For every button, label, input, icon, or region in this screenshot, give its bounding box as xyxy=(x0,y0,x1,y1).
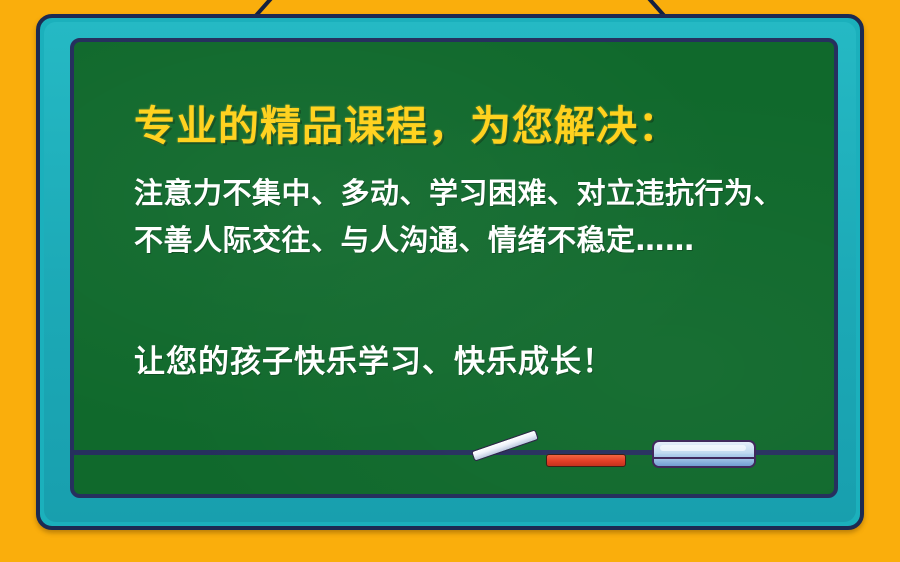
blackboard-eraser-icon xyxy=(652,440,756,468)
white-chalk-icon xyxy=(471,429,539,462)
red-chalk-icon xyxy=(546,454,626,467)
problem-list: 注意力不集中、多动、学习困难、对立违抗行为、 不善人际交往、与人沟通、情绪不稳定… xyxy=(134,170,834,264)
problem-line-2: 不善人际交往、与人沟通、情绪不稳定…… xyxy=(134,217,834,264)
blackboard-frame: 专业的精品课程，为您解决： 注意力不集中、多动、学习困难、对立违抗行为、 不善人… xyxy=(36,14,864,530)
eraser-felt xyxy=(654,457,754,466)
poster-canvas: 专业的精品课程，为您解决： 注意力不集中、多动、学习困难、对立违抗行为、 不善人… xyxy=(0,0,900,562)
blackboard-surface: 专业的精品课程，为您解决： 注意力不集中、多动、学习困难、对立违抗行为、 不善人… xyxy=(70,38,838,498)
problem-line-1: 注意力不集中、多动、学习困难、对立违抗行为、 xyxy=(134,170,834,217)
text-block: 专业的精品课程，为您解决： 注意力不集中、多动、学习困难、对立违抗行为、 不善人… xyxy=(134,104,834,264)
closing-slogan: 让您的孩子快乐学习、快乐成长！ xyxy=(134,344,834,381)
headline: 专业的精品课程，为您解决： xyxy=(134,104,834,148)
eraser-gloss xyxy=(660,445,746,451)
